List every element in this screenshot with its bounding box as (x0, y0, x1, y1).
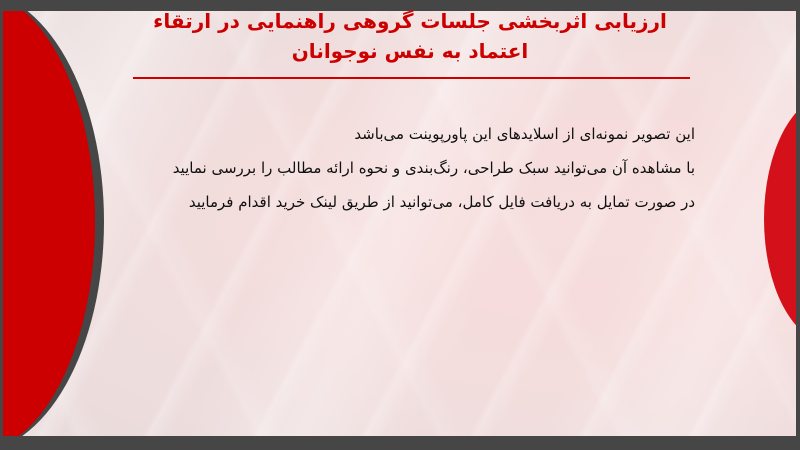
background-streaks-secondary-icon (3, 11, 796, 436)
frame-border-left (0, 0, 3, 450)
background-streaks-icon (3, 11, 796, 436)
slide-title-line-2: اعتماد به نفس نوجوانان (120, 36, 700, 66)
slide-title-line-1: ارزیابی اثربخشی جلسات گروهی راهنمایی در … (120, 6, 700, 36)
slide-canvas: ارزیابی اثربخشی جلسات گروهی راهنمایی در … (0, 0, 800, 450)
frame-border-right (796, 0, 800, 450)
slide-title: ارزیابی اثربخشی جلسات گروهی راهنمایی در … (120, 6, 700, 66)
slide-body-line-1: این تصویر نمونه‌ای از اسلایدهای این پاور… (75, 117, 695, 151)
slide-body: این تصویر نمونه‌ای از اسلایدهای این پاور… (75, 117, 695, 219)
title-underline-rule (133, 77, 690, 79)
slide-body-line-2: با مشاهده آن می‌توانید سبک طراحی، رنگ‌بن… (75, 151, 695, 185)
slide-body-line-3: در صورت تمایل به دریافت فایل کامل، می‌تو… (75, 185, 695, 219)
slide-background (3, 11, 796, 436)
frame-border-bottom (0, 436, 800, 450)
